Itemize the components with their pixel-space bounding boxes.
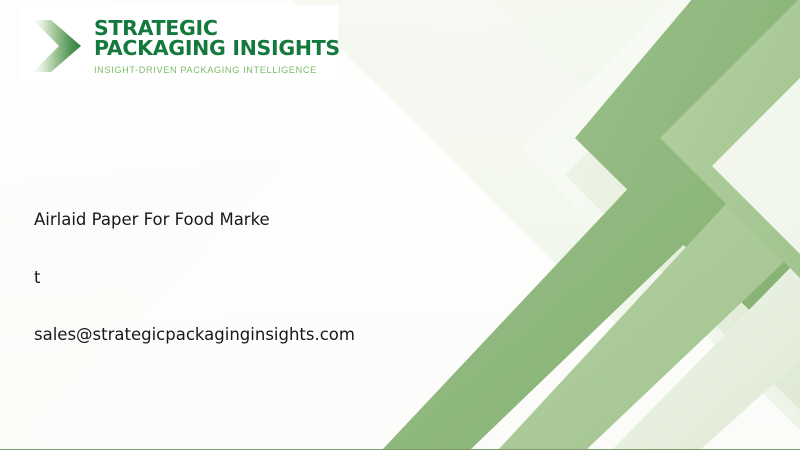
slide-canvas: STRATEGIC PACKAGING INSIGHTS INSIGHT-DRI… <box>0 0 800 450</box>
report-title-overflow-line: t <box>34 270 454 287</box>
logo-lockup: STRATEGIC PACKAGING INSIGHTS INSIGHT-DRI… <box>20 5 338 86</box>
logo-wordmark: STRATEGIC PACKAGING INSIGHTS INSIGHT-DRI… <box>94 16 340 75</box>
report-title-line: Airlaid Paper For Food Marke <box>34 212 454 229</box>
logo-name-line-2: PACKAGING INSIGHTS <box>94 38 340 58</box>
chevron-arrow-mark-icon <box>26 15 88 77</box>
contact-email[interactable]: sales@strategicpackaginginsights.com <box>34 327 454 344</box>
logo-tagline: INSIGHT-DRIVEN PACKAGING INTELLIGENCE <box>94 65 340 75</box>
body-copy-block: Airlaid Paper For Food Marke t sales@str… <box>34 212 454 344</box>
logo-name-line-1: STRATEGIC <box>94 18 340 38</box>
